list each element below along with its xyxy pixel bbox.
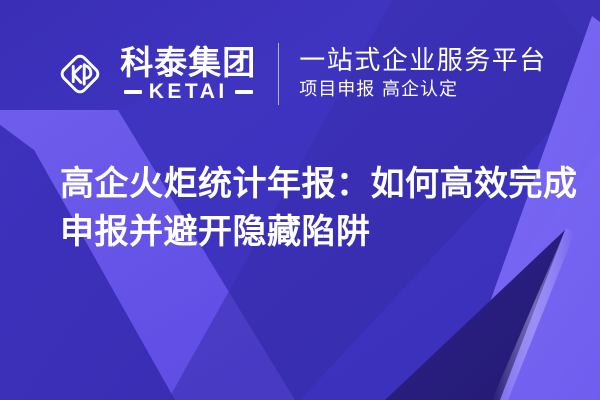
brand-dash-left-icon xyxy=(124,90,142,94)
banner-header: 科泰集团 KETAI 一站式企业服务平台 项目申报 高企认定 xyxy=(0,0,600,148)
brand-name-en: KETAI xyxy=(149,81,228,102)
promo-banner: 科泰集团 KETAI 一站式企业服务平台 项目申报 高企认定 高企火炬统计年报：… xyxy=(0,0,600,400)
brand-en-row: KETAI xyxy=(120,81,256,102)
brand-dash-right-icon xyxy=(235,90,253,94)
ketai-diamond-kp-logo-icon xyxy=(53,47,107,101)
tagline-primary: 一站式企业服务平台 xyxy=(299,48,547,76)
headline-block: 高企火炬统计年报：如何高效完成 申报并避开隐藏陷阱 xyxy=(60,160,560,256)
headline-line-2: 申报并避开隐藏陷阱 xyxy=(60,208,560,256)
brand-wordmark: 科泰集团 KETAI xyxy=(120,46,256,102)
brand-name-cn: 科泰集团 xyxy=(120,46,256,79)
headline-line-1: 高企火炬统计年报：如何高效完成 xyxy=(60,160,560,208)
header-divider xyxy=(278,43,279,105)
tagline-group: 一站式企业服务平台 项目申报 高企认定 xyxy=(299,48,547,99)
tagline-secondary: 项目申报 高企认定 xyxy=(299,80,547,100)
brand-lockup: 科泰集团 KETAI xyxy=(53,46,256,102)
